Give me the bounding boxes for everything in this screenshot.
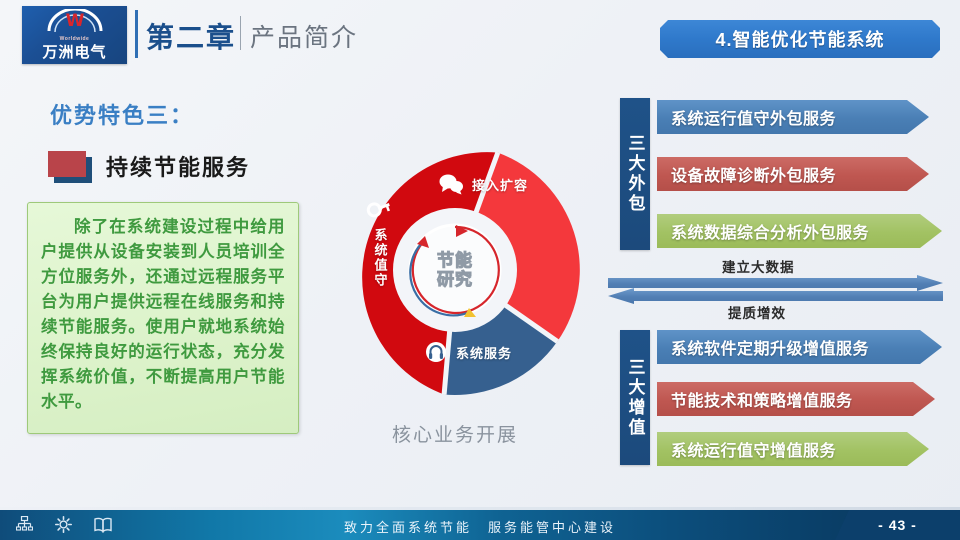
outsourcing-item-1-label: 设备故障诊断外包服务 [657,162,836,186]
middle-top-label: 建立大数据 [722,256,795,276]
square-bullet-front [48,151,86,177]
donut-label-group-2: 系统服务 [424,341,512,363]
logo-chinese-text: 万洲电气 [42,44,106,61]
header-separator [240,16,241,50]
square-bullet-icon [48,151,92,181]
valueadd-item-0-label: 系统软件定期升级增值服务 [657,335,869,359]
slide: W Worldwide 万洲电气 第二章 产品简介 4.智能优化节能系统 优势特… [0,0,960,540]
big-arrow-right [608,275,943,291]
logo-letter: W [66,13,84,30]
outsourcing-group-tab: 三大外包 [620,98,650,250]
valueadd-group-tab: 三大增值 [620,330,650,465]
outsourcing-item-2-label: 系统数据综合分析外包服务 [657,219,869,243]
section-banner-label: 4.智能优化节能系统 [660,20,940,58]
header-accent-bar [135,10,138,58]
page-title: 产品简介 [250,18,358,54]
valueadd-item-1-label: 节能技术和策略增值服务 [657,387,853,411]
description-note: 除了在系统建设过程中给用户提供从设备安装到人员培训全方位服务外，还通过远程服务平… [27,202,299,434]
page-number: - 43 - [835,510,960,540]
chart-caption: 核心业务开展 [330,420,580,447]
logo-latin-text: Worldwide [60,36,90,42]
donut-label-group-0: 接入扩容 [438,173,528,195]
footer-bar: 致力全面系统节能 服务能管中心建设 - 43 - [0,510,960,540]
feature-heading: 持续节能服务 [48,150,250,182]
footer-slogan: 致力全面系统节能 服务能管中心建设 [0,517,960,536]
chapter-label: 第二章 [146,16,236,56]
valueadd-item-2[interactable]: 系统运行值守增值服务 [657,432,929,466]
donut-center-label: 节能研究 [330,251,580,289]
donut-segment-label-0: 接入扩容 [472,175,528,194]
speech-bubbles-icon [438,173,464,195]
valueadd-item-1[interactable]: 节能技术和策略增值服务 [657,382,935,416]
outsourcing-item-1[interactable]: 设备故障诊断外包服务 [657,157,929,191]
company-logo: W Worldwide 万洲电气 [22,6,127,64]
valueadd-item-2-label: 系统运行值守增值服务 [657,437,836,461]
outsourcing-item-2[interactable]: 系统数据综合分析外包服务 [657,214,942,248]
core-business-donut-chart: 接入扩容 系统值守 系统服务 节能研究 [330,145,580,395]
headset-icon [424,341,448,363]
key-icon [364,196,396,226]
outsourcing-item-0-label: 系统运行值守外包服务 [657,105,836,129]
logo-mark-icon: W [46,9,104,35]
description-text: 除了在系统建设过程中给用户提供从设备安装到人员培训全方位服务外，还通过远程服务平… [41,215,285,415]
middle-bottom-label: 提质增效 [728,302,786,322]
donut-segment-label-2: 系统服务 [456,343,512,362]
valueadd-item-0[interactable]: 系统软件定期升级增值服务 [657,330,942,364]
advantage-title: 优势特色三： [50,98,194,130]
feature-label: 持续节能服务 [106,150,250,182]
outsourcing-item-0[interactable]: 系统运行值守外包服务 [657,100,929,134]
section-banner: 4.智能优化节能系统 [660,20,940,58]
